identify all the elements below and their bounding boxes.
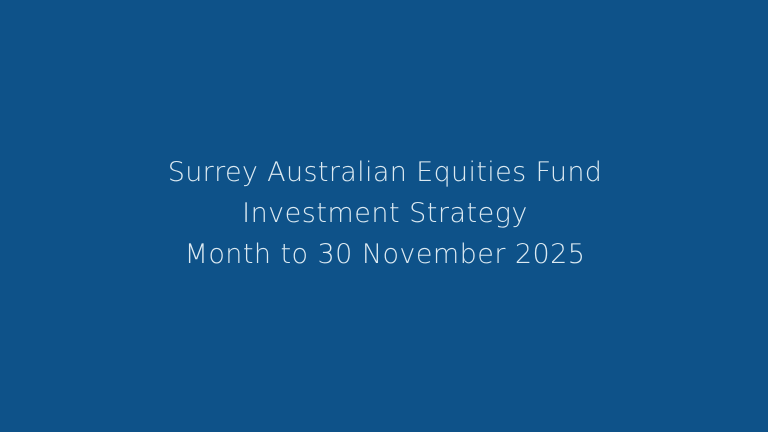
subject-line: Investment Strategy (2, 193, 768, 234)
period-line: Month to 30 November 2025 (2, 234, 768, 275)
title-card-slide: Surrey Australian Equities Fund Investme… (0, 0, 768, 432)
fund-name-line: Surrey Australian Equities Fund (2, 152, 768, 193)
title-text-block: Surrey Australian Equities Fund Investme… (0, 152, 768, 275)
